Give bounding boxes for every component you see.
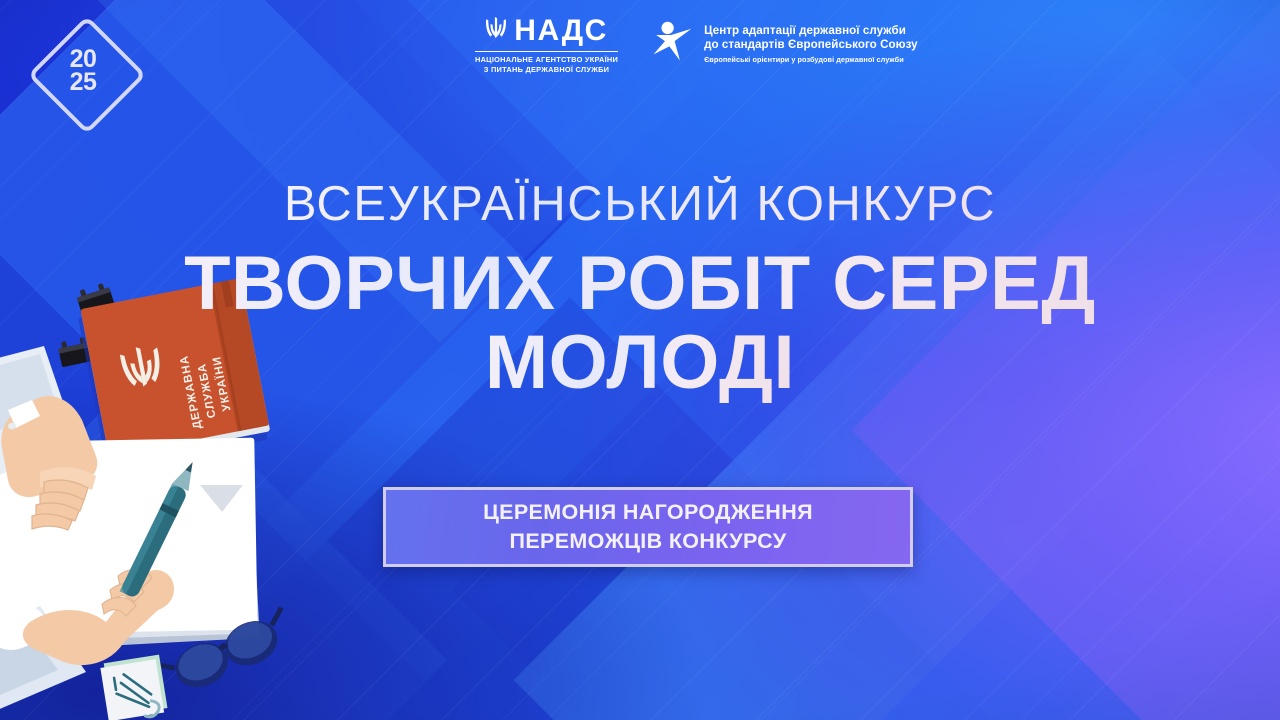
ribbon-line-1: ЦЕРЕМОНІЯ НАГОРОДЖЕННЯ bbox=[483, 498, 813, 527]
ceremony-ribbon: ЦЕРЕМОНІЯ НАГОРОДЖЕННЯ ПЕРЕМОЖЦІВ КОНКУР… bbox=[383, 487, 913, 567]
ribbon-line-2: ПЕРЕМОЖЦІВ КОНКУРСУ bbox=[510, 527, 787, 556]
title-line-2: МОЛОДІ bbox=[485, 323, 795, 404]
title-block: ВСЕУКРАЇНСЬКИЙ КОНКУРС ТВОРЧИХ РОБІТ СЕР… bbox=[0, 0, 1280, 720]
title-line-1: ТВОРЧИХ РОБІТ СЕРЕД bbox=[184, 244, 1096, 325]
title-kicker: ВСЕУКРАЇНСЬКИЙ КОНКУРС bbox=[284, 176, 996, 232]
promo-banner: ДЕРЖАВНА СЛУЖБА УКРАЇНИ bbox=[0, 0, 1280, 720]
